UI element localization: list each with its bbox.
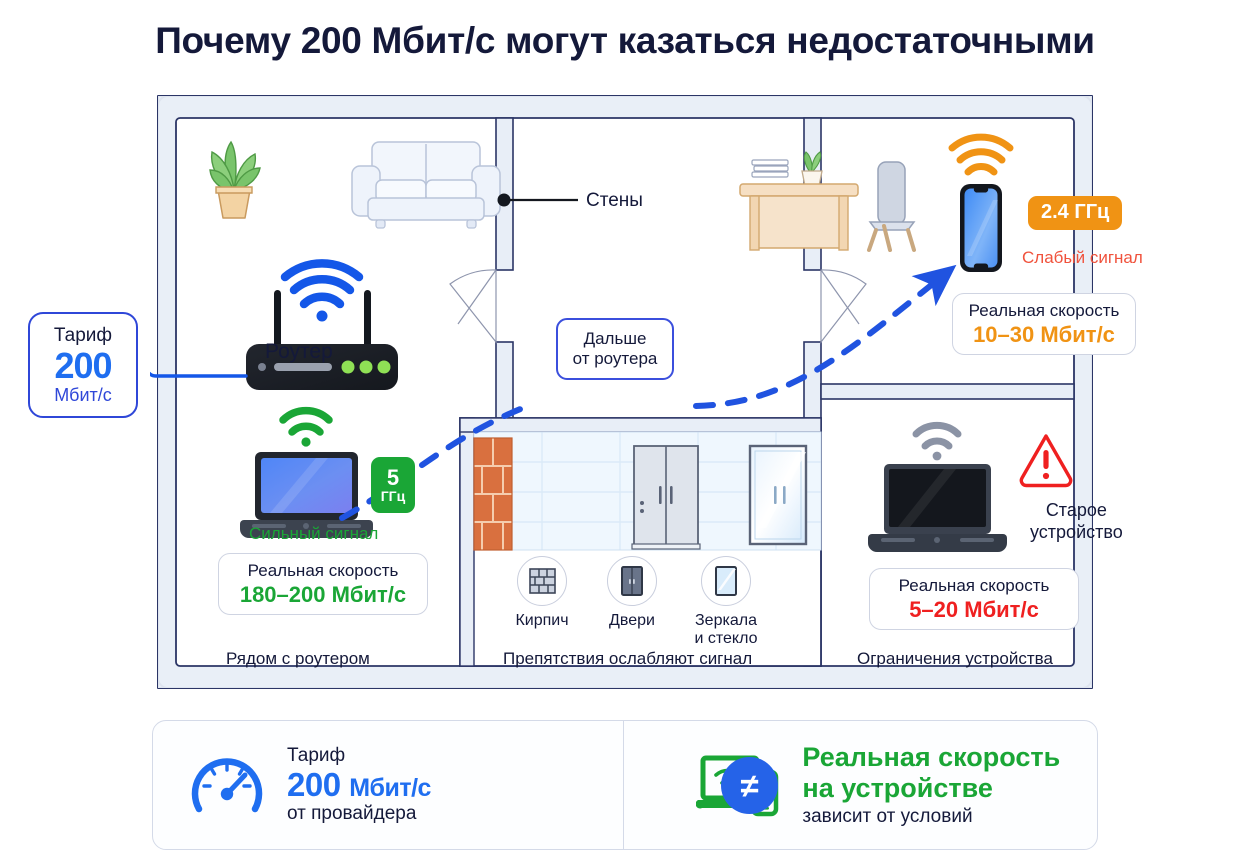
mirror-glass-icon [701, 556, 751, 606]
desk-and-chair-icon [740, 152, 914, 250]
footer-tariff-number: 200 [287, 766, 341, 803]
infographic-canvas: Почему 200 Мбит/с могут казаться недоста… [0, 0, 1250, 867]
smartphone-weak-icon [952, 137, 1010, 272]
farther-line-2: от роутера [573, 349, 658, 369]
old-device-line-2: устройство [1030, 522, 1123, 544]
not-equal-icon: ≠ [721, 757, 778, 814]
footer-tariff-value: 200 Мбит/с [287, 767, 431, 804]
footer-tariff-unit: Мбит/с [349, 774, 431, 802]
potted-plant-icon [210, 142, 260, 218]
tariff-badge: Тариф 200 Мбит/с [28, 312, 138, 418]
speed-card-near-router: Реальная скорость 180–200 Мбит/с [218, 553, 428, 615]
speed-value: 180–200 Мбит/с [240, 583, 406, 608]
footer-tariff-source: от провайдера [287, 803, 431, 824]
farther-from-router-callout: Дальше от роутера [556, 318, 674, 380]
summary-footer: Тариф 200 Мбит/с от провайдера ≠ [152, 720, 1098, 850]
not-equal-badge-wrap: ≠ [721, 757, 778, 814]
footer-tariff-label: Тариф [287, 745, 431, 766]
obstacles-caption: Препятствия ослабляют сигнал [503, 649, 752, 669]
walls-callout-label: Стены [586, 190, 643, 212]
footer-real-speed-line-1: Реальная скорость [802, 742, 1060, 773]
mirror-glass-illustration [750, 446, 806, 544]
speed-value: 10–30 Мбит/с [973, 323, 1115, 348]
footer-tariff-block: Тариф 200 Мбит/с от провайдера [153, 745, 623, 824]
obstacle-item-mirror: Зеркала и стекло [678, 556, 774, 649]
old-device-label: Старое устройство [1030, 500, 1123, 544]
router-icon [246, 263, 398, 390]
laptop-strong-icon [240, 411, 373, 538]
band-badge-5ghz-number: 5 [387, 466, 399, 489]
obstacle-item-brick: Кирпич [494, 556, 590, 630]
band-badge-5ghz: 5 ГГц [371, 457, 415, 513]
speed-value: 5–20 Мбит/с [909, 598, 1039, 623]
tariff-value: 200 [54, 348, 111, 384]
signal-label-strong: Сильный сигнал [249, 524, 378, 544]
footer-real-speed-line-2: на устройстве [802, 773, 1060, 804]
tariff-label: Тариф [54, 326, 112, 345]
footer-real-speed-line-3: зависит от условий [802, 806, 1060, 828]
speed-caption: Реальная скорость [969, 301, 1120, 320]
speed-caption: Реальная скорость [248, 561, 399, 580]
brick-icon [517, 556, 567, 606]
speedometer-icon [189, 747, 265, 823]
door-icon [607, 556, 657, 606]
obstacle-label-mirror-line-1: Зеркала [695, 612, 757, 629]
band-badge-5ghz-unit: ГГц [381, 489, 405, 504]
sofa-icon [352, 142, 500, 228]
obstacle-label-door: Двери [584, 612, 680, 630]
router-label: Роутер [265, 340, 333, 364]
obstacle-label-mirror-line-2: и стекло [694, 630, 757, 647]
obstacle-label-mirror: Зеркала и стекло [678, 612, 774, 649]
zone-caption-near-router: Рядом с роутером [226, 649, 370, 669]
page-title: Почему 200 Мбит/с могут казаться недоста… [0, 20, 1250, 62]
old-device-line-1: Старое [1030, 500, 1123, 522]
obstacle-item-door: Двери [584, 556, 680, 630]
footer-real-speed-block: Реальная скорость на устройстве зависит … [624, 742, 1060, 828]
speed-caption: Реальная скорость [899, 576, 1050, 595]
farther-line-1: Дальше [584, 329, 647, 349]
signal-label-weak: Слабый сигнал [1022, 248, 1143, 268]
speed-card-far-room: Реальная скорость 10–30 Мбит/с [952, 293, 1136, 355]
speed-card-old-device: Реальная скорость 5–20 Мбит/с [869, 568, 1079, 630]
cabinet-doors-illustration [632, 446, 700, 549]
brick-wall-illustration [474, 438, 512, 550]
band-badge-24ghz: 2.4 ГГц [1028, 196, 1122, 230]
tariff-unit: Мбит/с [54, 386, 112, 404]
zone-caption-old-device: Ограничения устройства [857, 649, 1053, 669]
warning-triangle-icon [1021, 436, 1070, 486]
obstacle-label-brick: Кирпич [494, 612, 590, 630]
